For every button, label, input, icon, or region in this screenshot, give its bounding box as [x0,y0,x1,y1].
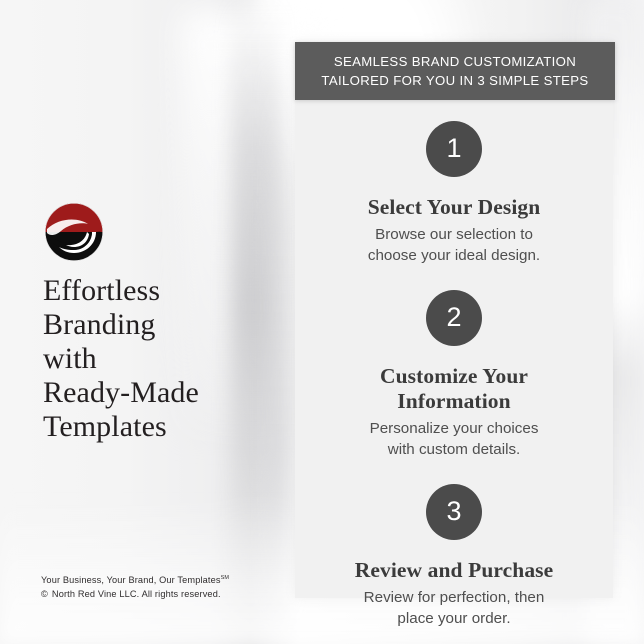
step-number-badge-1: 1 [426,121,482,177]
step-description-3-line-2: place your order. [364,608,545,629]
headline-line-2: Branding [43,308,258,342]
headline-line-1: Effortless [43,274,258,308]
step-description-2-line-2: with custom details. [370,439,539,460]
promo-graphic-canvas: Effortless Branding with Ready-Made Temp… [0,0,644,644]
step-description-1-line-2: choose your ideal design. [368,245,540,266]
step-title-1: Select Your Design [368,195,541,220]
swirl-logo-icon [43,201,105,263]
step-description-2-line-1: Personalize your choices [370,418,539,439]
step-description-3: Review for perfection, then place your o… [364,587,545,629]
step-title-2: Customize Your Information [380,364,528,414]
headline-line-5: Templates [43,410,258,444]
step-description-3-line-1: Review for perfection, then [364,587,545,608]
copyright-icon: © [41,589,48,599]
brand-column: Effortless Branding with Ready-Made Temp… [0,0,280,644]
service-mark-icon: SM [221,575,229,581]
panel-header-banner: SEAMLESS BRAND CUSTOMIZATION TAILORED FO… [295,42,615,100]
headline-line-4: Ready-Made [43,376,258,410]
footer-tagline: Your Business, Your Brand, Our Templates… [41,571,261,587]
step-number-badge-3: 3 [426,484,482,540]
step-title-3: Review and Purchase [355,558,554,583]
footer-tagline-text: Your Business, Your Brand, Our Templates [41,575,221,585]
page-title: Effortless Branding with Ready-Made Temp… [43,274,258,444]
panel-header-line-1: SEAMLESS BRAND CUSTOMIZATION [334,52,576,71]
step-item-2: 2 Customize Your Information Personalize… [295,290,613,460]
step-number-badge-2: 2 [426,290,482,346]
step-description-1: Browse our selection to choose your idea… [368,224,540,266]
step-description-1-line-1: Browse our selection to [368,224,540,245]
footer-copyright: ©North Red Vine LLC. All rights reserved… [41,587,261,601]
step-title-2-line-1: Customize Your [380,364,528,389]
step-item-1: 1 Select Your Design Browse our selectio… [295,121,613,266]
step-title-2-line-2: Information [380,389,528,414]
footer-copyright-text: North Red Vine LLC. All rights reserved. [52,589,221,599]
step-description-2: Personalize your choices with custom det… [370,418,539,460]
panel-header-line-2: TAILORED FOR YOU IN 3 SIMPLE STEPS [321,71,588,90]
steps-list: 1 Select Your Design Browse our selectio… [295,100,613,598]
footer-legal: Your Business, Your Brand, Our Templates… [41,571,261,601]
step-item-3: 3 Review and Purchase Review for perfect… [295,484,613,629]
headline-line-3: with [43,342,258,376]
